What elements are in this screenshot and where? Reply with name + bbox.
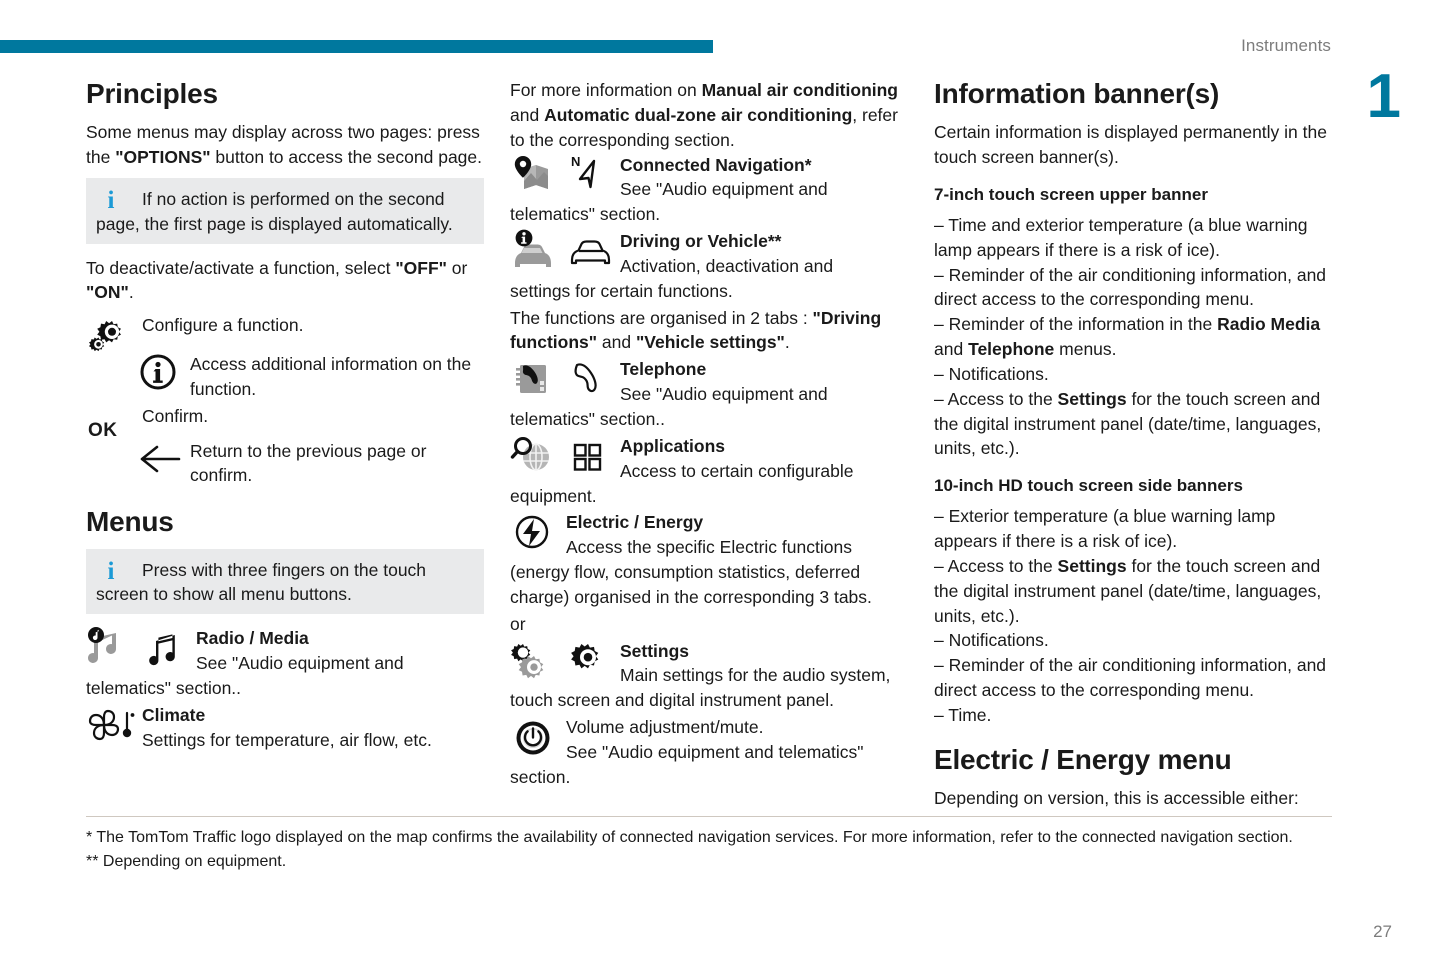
back-arrow-icon-svg — [138, 439, 184, 479]
manual-ac-intro-part2: and — [510, 105, 544, 125]
footnotes: * The TomTom Traffic logo displayed on t… — [86, 826, 1336, 875]
menu-entry-radio-media: Radio / Media See "Audio equipment and t… — [86, 626, 484, 701]
legend-return-previous: Return to the previous page or confirm. — [86, 439, 484, 489]
menu-entry-driving-vehicle: Driving or Vehicle** Activation, deactiv… — [510, 229, 908, 304]
chapter-tab-number: 1 — [1367, 66, 1400, 128]
footnote-single-asterisk: * The TomTom Traffic logo displayed on t… — [86, 826, 1336, 850]
principles-intro-part2: button to access the second page. — [211, 147, 482, 167]
deactivate-part1: To deactivate/activate a function, selec… — [86, 258, 395, 278]
menu-entry-radio-media-flow: telematics" section.. — [86, 676, 484, 701]
tabs-note: The functions are organised in 2 tabs : … — [510, 306, 908, 356]
telephone-icons — [510, 357, 614, 405]
menu-entry-electric-energy-text: Access the specific Electric functions — [510, 535, 908, 560]
list-item-pre: – Access to the — [934, 389, 1058, 409]
info-icon: i — [98, 559, 124, 584]
menu-entry-electric-energy-title: Electric / Energy — [510, 510, 908, 535]
deactivate-part2: or — [447, 258, 467, 278]
footnote-divider — [86, 816, 1332, 817]
ok-label: OK — [88, 418, 118, 445]
legend-confirm-text: Confirm. — [86, 404, 484, 429]
list-item: – Access to the Settings for the touch s… — [934, 554, 1332, 629]
svg-text:N: N — [571, 154, 580, 169]
back-arrow-icon — [138, 439, 190, 483]
tabs-note-part3: . — [785, 332, 790, 352]
legend-additional-information: Access additional information on the fun… — [86, 352, 484, 402]
page-title-electric-energy-menu: Electric / Energy menu — [934, 744, 1332, 776]
menu-entry-volume-text2: See "Audio equipment and telematics" — [510, 740, 908, 765]
menu-entry-connected-navigation-flow: telematics" section. — [510, 202, 908, 227]
list-7inch-upper-banner: – Time and exterior temperature (a blue … — [934, 213, 1332, 461]
on-keyword: "ON" — [86, 282, 129, 302]
map-pin-icon — [510, 153, 556, 197]
menu-entry-telephone: Telephone See "Audio equipment and telem… — [510, 357, 908, 432]
tabs-note-part1: The functions are organised in 2 tabs : — [510, 308, 813, 328]
electric-energy-menu-outro: Depending on version, this is accessible… — [934, 786, 1332, 811]
information-banners-intro: Certain information is displayed permane… — [934, 120, 1332, 170]
menu-entry-driving-vehicle-flow: settings for certain functions. — [510, 279, 908, 304]
manual-ac-intro-part1: For more information on — [510, 80, 702, 100]
menu-entry-climate: Climate Settings for temperature, air fl… — [86, 703, 484, 753]
deactivate-part3: . — [129, 282, 134, 302]
page-title-menus: Menus — [86, 506, 484, 538]
list-item-mid: and — [934, 339, 968, 359]
car-outline-icon — [566, 229, 616, 273]
principles-intro: Some menus may display across two pages:… — [86, 120, 484, 170]
radio-media-keyword: Radio Media — [1217, 314, 1320, 334]
info-box-second-page: i If no action is performed on the secon… — [86, 178, 484, 244]
list-item: – Time and exterior temperature (a blue … — [934, 213, 1332, 263]
column-right: Information banner(s) Certain informatio… — [934, 78, 1332, 819]
legend-confirm: OK Confirm. — [86, 404, 484, 429]
list-item: – Access to the Settings for the touch s… — [934, 387, 1332, 462]
info-icon: i — [98, 188, 124, 213]
page-title-information-banners: Information banner(s) — [934, 78, 1332, 110]
vehicle-settings-keyword: "Vehicle settings" — [636, 332, 785, 352]
info-circle-icon-svg — [138, 352, 178, 392]
menu-entry-electric-energy-flow: (energy flow, consumption statistics, de… — [510, 560, 908, 610]
legend-configure-function: Configure a function. — [86, 313, 484, 338]
applications-icons — [510, 434, 614, 482]
driving-vehicle-icons — [510, 229, 614, 277]
music-notes-outline-icon — [142, 626, 186, 670]
menu-entry-applications: Applications Access to certain configura… — [510, 434, 908, 509]
car-info-icon — [510, 229, 556, 273]
connected-navigation-icons: N — [510, 153, 614, 201]
menu-entry-settings: Settings Main settings for the audio sys… — [510, 639, 908, 714]
menu-entry-volume: Volume adjustment/mute. See "Audio equip… — [510, 715, 908, 790]
list-item-pre: – Reminder of the information in the — [934, 314, 1217, 334]
menu-entry-volume-flow: section. — [510, 765, 908, 790]
manual-ac-keyword: Manual air conditioning — [702, 80, 898, 100]
info-box-second-page-text: If no action is performed on the second … — [96, 187, 474, 237]
list-item: – Time. — [934, 703, 1332, 728]
menu-entry-connected-navigation: N Connected Navigation* See "Audio equip… — [510, 153, 908, 228]
settings-keyword: Settings — [1058, 556, 1127, 576]
fan-thermometer-icon — [86, 703, 138, 751]
power-volume-icon-svg — [510, 715, 556, 761]
column-left: Principles Some menus may display across… — [86, 78, 484, 819]
menu-entry-applications-flow: equipment. — [510, 484, 908, 509]
page-number: 27 — [1373, 922, 1392, 942]
menu-entry-settings-flow: touch screen and digital instrument pane… — [510, 688, 908, 713]
list-item-pre: – Access to the — [934, 556, 1058, 576]
fan-thermometer-icon-svg — [86, 703, 136, 747]
auto-dualzone-ac-keyword: Automatic dual-zone air conditioning — [544, 105, 852, 125]
ok-text-icon: OK — [86, 404, 138, 444]
info-box-three-fingers-text: Press with three fingers on the touch sc… — [96, 558, 474, 608]
list-item-post: menus. — [1054, 339, 1116, 359]
list-item: – Exterior temperature (a blue warning l… — [934, 504, 1332, 554]
list-item: – Notifications. — [934, 628, 1332, 653]
electric-bolt-icon-svg — [510, 510, 554, 554]
gear-pair-icon-svg — [86, 313, 130, 357]
deactivate-activate-text: To deactivate/activate a function, selec… — [86, 256, 484, 306]
electric-bolt-icon — [510, 510, 562, 554]
phone-handset-icon — [566, 357, 612, 401]
info-circle-icon — [138, 352, 190, 396]
gear-single-icon — [566, 639, 612, 683]
subhead-7inch-upper-banner: 7-inch touch screen upper banner — [934, 184, 1332, 207]
tabs-note-part2: and — [597, 332, 636, 352]
off-keyword: "OFF" — [395, 258, 447, 278]
menu-entry-telephone-flow: telematics" section.. — [510, 407, 908, 432]
compass-north-icon: N — [566, 153, 614, 197]
footnote-double-asterisk: ** Depending on equipment. — [86, 850, 1336, 874]
menu-entry-electric-energy: Electric / Energy Access the specific El… — [510, 510, 908, 609]
subhead-10inch-side-banners: 10-inch HD touch screen side banners — [934, 475, 1332, 498]
header-section-label: Instruments — [1241, 36, 1331, 56]
column-middle: For more information on Manual air condi… — [510, 78, 908, 819]
settings-keyword: Settings — [1058, 389, 1127, 409]
globe-search-icon — [510, 434, 558, 478]
menu-entry-climate-title: Climate — [86, 703, 484, 728]
radio-media-icons — [86, 626, 190, 674]
telephone-keyword: Telephone — [968, 339, 1054, 359]
or-label: or — [510, 612, 908, 637]
settings-icons — [510, 639, 614, 687]
gear-pair-icon — [86, 313, 138, 361]
page-columns: Principles Some menus may display across… — [86, 78, 1332, 819]
phone-book-icon — [510, 357, 556, 401]
list-item: – Reminder of the information in the Rad… — [934, 312, 1332, 362]
options-keyword: "OPTIONS" — [115, 147, 210, 167]
page-title-principles: Principles — [86, 78, 484, 110]
manual-ac-intro: For more information on Manual air condi… — [510, 78, 908, 153]
gear-pair-icon — [510, 639, 558, 683]
list-item: – Reminder of the air conditioning infor… — [934, 653, 1332, 703]
info-box-three-fingers: i Press with three fingers on the touch … — [86, 549, 484, 615]
apps-grid-icon — [566, 434, 610, 478]
menu-entry-volume-text: Volume adjustment/mute. — [510, 715, 908, 740]
accent-top-rule — [0, 40, 713, 53]
power-volume-icon — [510, 715, 562, 763]
music-notes-filled-icon — [86, 626, 134, 670]
list-item: – Notifications. — [934, 362, 1332, 387]
list-10inch-side-banners: – Exterior temperature (a blue warning l… — [934, 504, 1332, 728]
legend-configure-function-text: Configure a function. — [86, 313, 484, 338]
list-item: – Reminder of the air conditioning infor… — [934, 263, 1332, 313]
menu-entry-climate-text: Settings for temperature, air flow, etc. — [86, 728, 484, 753]
